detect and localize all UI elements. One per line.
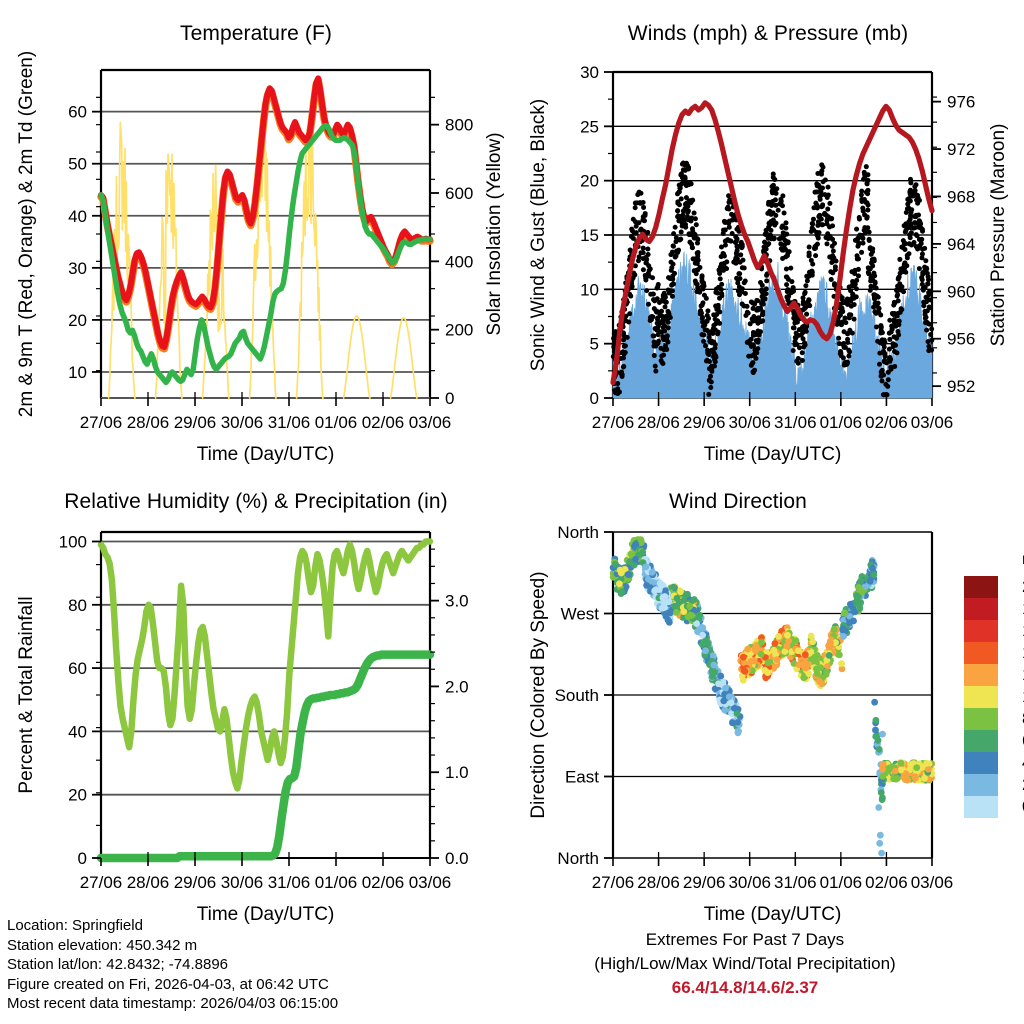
svg-text:01/06: 01/06 [315, 413, 358, 432]
extremes-heading: Extremes For Past 7 Days [530, 928, 960, 952]
svg-text:29/06: 29/06 [683, 873, 726, 892]
svg-text:29/06: 29/06 [174, 413, 217, 432]
svg-text:Time (Day/UTC): Time (Day/UTC) [197, 444, 335, 465]
svg-text:02/06: 02/06 [865, 413, 908, 432]
svg-text:10: 10 [68, 363, 87, 382]
svg-text:29/06: 29/06 [174, 873, 217, 892]
svg-text:1.0: 1.0 [445, 763, 469, 782]
svg-text:20: 20 [68, 786, 87, 805]
svg-text:03/06: 03/06 [409, 873, 452, 892]
wind-speed-colorbar: mph20+181614121086420 [964, 551, 1024, 818]
svg-text:952: 952 [947, 377, 975, 396]
svg-text:02/06: 02/06 [865, 873, 908, 892]
svg-text:27/06: 27/06 [80, 873, 123, 892]
station-metadata: Location: SpringfieldStation elevation: … [7, 916, 338, 1014]
svg-text:Solar Insolation (Yellow): Solar Insolation (Yellow) [484, 132, 505, 335]
svg-text:North: North [557, 849, 599, 868]
station-metadata-line-2: Station lat/lon: 42.8432; -74.8896 [7, 955, 338, 975]
svg-text:03/06: 03/06 [911, 873, 954, 892]
svg-text:3.0: 3.0 [445, 592, 469, 611]
svg-text:968: 968 [947, 187, 975, 206]
svg-text:40: 40 [68, 207, 87, 226]
svg-text:South: South [555, 686, 599, 705]
svg-text:20: 20 [68, 311, 87, 330]
extremes-subheading: (High/Low/Max Wind/Total Precipitation) [530, 952, 960, 976]
extremes-block: Extremes For Past 7 Days (High/Low/Max W… [530, 928, 960, 1000]
svg-text:600: 600 [445, 184, 473, 203]
temperature-title: Temperature (F) [0, 22, 512, 46]
station-metadata-line-1: Station elevation: 450.342 m [7, 936, 338, 956]
svg-text:976: 976 [947, 93, 975, 112]
svg-text:30/06: 30/06 [221, 873, 264, 892]
panel-wind-direction: Wind Direction NorthWestSouthEastNorth27… [512, 490, 1024, 920]
svg-text:60: 60 [68, 103, 87, 122]
svg-text:0: 0 [78, 849, 87, 868]
svg-text:0: 0 [445, 389, 454, 408]
svg-text:20: 20 [580, 172, 599, 191]
svg-text:80: 80 [68, 596, 87, 615]
svg-text:100: 100 [59, 532, 87, 551]
svg-text:28/06: 28/06 [637, 873, 680, 892]
svg-text:31/06: 31/06 [774, 413, 817, 432]
station-metadata-line-0: Location: Springfield [7, 916, 338, 936]
wind-direction-title: Wind Direction [482, 490, 994, 514]
svg-text:02/06: 02/06 [362, 413, 405, 432]
svg-text:28/06: 28/06 [127, 873, 170, 892]
svg-text:01/06: 01/06 [820, 873, 863, 892]
svg-text:30: 30 [580, 63, 599, 82]
svg-text:31/06: 31/06 [268, 413, 311, 432]
svg-text:50: 50 [68, 155, 87, 174]
svg-text:15: 15 [580, 226, 599, 245]
svg-text:03/06: 03/06 [911, 413, 954, 432]
svg-text:400: 400 [445, 252, 473, 271]
svg-text:Direction (Colored By Speed): Direction (Colored By Speed) [528, 571, 549, 818]
svg-text:East: East [565, 768, 599, 787]
winds-pressure-chart: 05101520253095295696096496897297627/0628… [512, 0, 1024, 460]
svg-text:25: 25 [580, 117, 599, 136]
station-metadata-line-3: Figure created on Fri, 2026-04-03, at 06… [7, 975, 338, 995]
svg-text:0: 0 [590, 389, 599, 408]
svg-text:West: West [561, 605, 600, 624]
svg-text:27/06: 27/06 [592, 413, 635, 432]
svg-text:31/06: 31/06 [774, 873, 817, 892]
svg-text:5: 5 [590, 335, 599, 354]
humidity-precip-chart: 0204060801000.01.02.03.027/0628/0629/063… [0, 490, 512, 920]
wind-direction-chart: NorthWestSouthEastNorth27/0628/0629/0630… [512, 490, 1024, 920]
panel-winds-pressure: Winds (mph) & Pressure (mb) 051015202530… [512, 0, 1024, 460]
svg-text:964: 964 [947, 235, 975, 254]
svg-text:27/06: 27/06 [80, 413, 123, 432]
svg-text:29/06: 29/06 [683, 413, 726, 432]
svg-text:40: 40 [68, 722, 87, 741]
svg-text:10: 10 [580, 280, 599, 299]
svg-text:01/06: 01/06 [820, 413, 863, 432]
panel-temperature: Temperature (F) 102030405060020040060080… [0, 0, 512, 460]
svg-text:2.0: 2.0 [445, 677, 469, 696]
humidity-precip-title: Relative Humidity (%) & Precipitation (i… [0, 490, 512, 514]
svg-text:27/06: 27/06 [592, 873, 635, 892]
svg-text:956: 956 [947, 330, 975, 349]
svg-text:31/06: 31/06 [268, 873, 311, 892]
svg-text:Percent & Total Rainfall: Percent & Total Rainfall [16, 596, 37, 793]
svg-text:02/06: 02/06 [362, 873, 405, 892]
svg-text:60: 60 [68, 659, 87, 678]
svg-text:30/06: 30/06 [221, 413, 264, 432]
svg-text:28/06: 28/06 [637, 413, 680, 432]
svg-text:Time (Day/UTC): Time (Day/UTC) [704, 444, 842, 465]
station-metadata-line-4: Most recent data timestamp: 2026/04/03 0… [7, 994, 338, 1014]
svg-text:972: 972 [947, 140, 975, 159]
svg-text:28/06: 28/06 [127, 413, 170, 432]
svg-text:0.0: 0.0 [445, 849, 469, 868]
svg-text:30/06: 30/06 [728, 413, 771, 432]
svg-text:North: North [557, 523, 599, 542]
svg-text:Sonic Wind & Gust (Blue, Black: Sonic Wind & Gust (Blue, Black) [528, 99, 549, 371]
svg-text:200: 200 [445, 321, 473, 340]
svg-text:03/06: 03/06 [409, 413, 452, 432]
svg-text:Station Pressure (Maroon): Station Pressure (Maroon) [988, 124, 1009, 347]
winds-pressure-title: Winds (mph) & Pressure (mb) [512, 22, 1024, 46]
svg-text:800: 800 [445, 116, 473, 135]
svg-text:01/06: 01/06 [315, 873, 358, 892]
svg-text:2m & 9m T (Red, Orange) & 2m T: 2m & 9m T (Red, Orange) & 2m Td (Green) [16, 51, 37, 417]
panel-humidity-precip: Relative Humidity (%) & Precipitation (i… [0, 490, 512, 920]
svg-text:Time (Day/UTC): Time (Day/UTC) [704, 904, 842, 925]
extremes-values: 66.4/14.8/14.6/2.37 [530, 976, 960, 1000]
svg-text:30: 30 [68, 259, 87, 278]
temperature-chart: 102030405060020040060080027/0628/0629/06… [0, 0, 512, 460]
svg-text:960: 960 [947, 282, 975, 301]
svg-text:30/06: 30/06 [728, 873, 771, 892]
